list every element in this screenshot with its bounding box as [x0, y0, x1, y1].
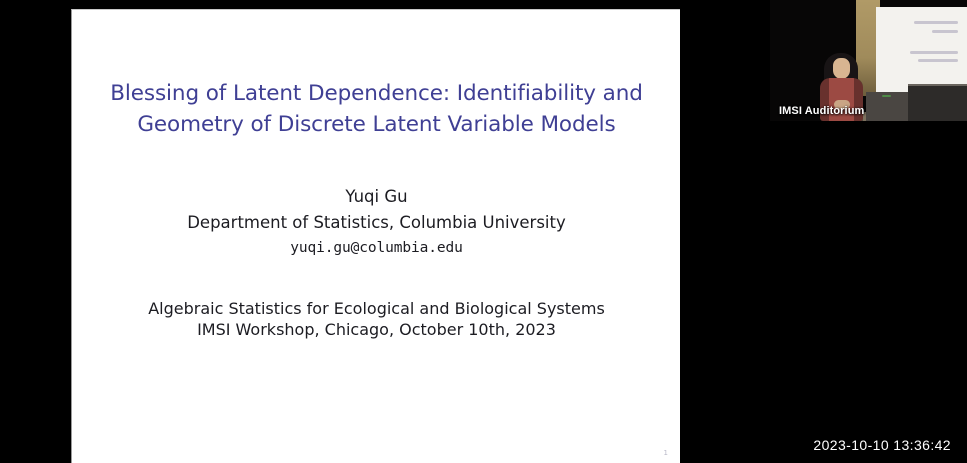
author-affiliation: Department of Statistics, Columbia Unive…: [92, 211, 661, 235]
video-player-screen: Blessing of Latent Dependence: Identifia…: [0, 0, 967, 463]
author-email: yuqi.gu@columbia.edu: [92, 237, 661, 259]
podium-indicator-light: [882, 95, 891, 97]
projected-text-line: [918, 59, 958, 62]
venue-line-1: Algebraic Statistics for Ecological and …: [92, 298, 661, 319]
slide-title: Blessing of Latent Dependence: Identifia…: [100, 78, 653, 140]
speaker-face: [833, 58, 850, 79]
projected-text-line: [914, 21, 958, 24]
slide-title-line-1: Blessing of Latent Dependence: Identifia…: [100, 78, 653, 109]
slide-page-number: 1: [664, 449, 668, 457]
venue-line-2: IMSI Workshop, Chicago, October 10th, 20…: [92, 319, 661, 340]
projected-text-line: [910, 51, 958, 54]
slide-title-line-2: Geometry of Discrete Latent Variable Mod…: [100, 109, 653, 140]
presentation-slide[interactable]: Blessing of Latent Dependence: Identifia…: [71, 9, 680, 463]
venue-block: Algebraic Statistics for Ecological and …: [92, 298, 661, 340]
recording-timestamp: 2023-10-10 13:36:42: [813, 437, 951, 453]
author-block: Yuqi Gu Department of Statistics, Columb…: [92, 186, 661, 259]
projection-screen: [876, 7, 967, 95]
author-name: Yuqi Gu: [92, 186, 661, 208]
camera-source-label: IMSI Auditorium: [779, 105, 864, 117]
projected-text-line: [932, 30, 958, 33]
desk: [908, 86, 967, 121]
auditorium-stage: [770, 0, 967, 121]
speaker-camera-tile[interactable]: IMSI Auditorium: [770, 0, 967, 121]
slide-content: Blessing of Latent Dependence: Identifia…: [72, 10, 680, 463]
